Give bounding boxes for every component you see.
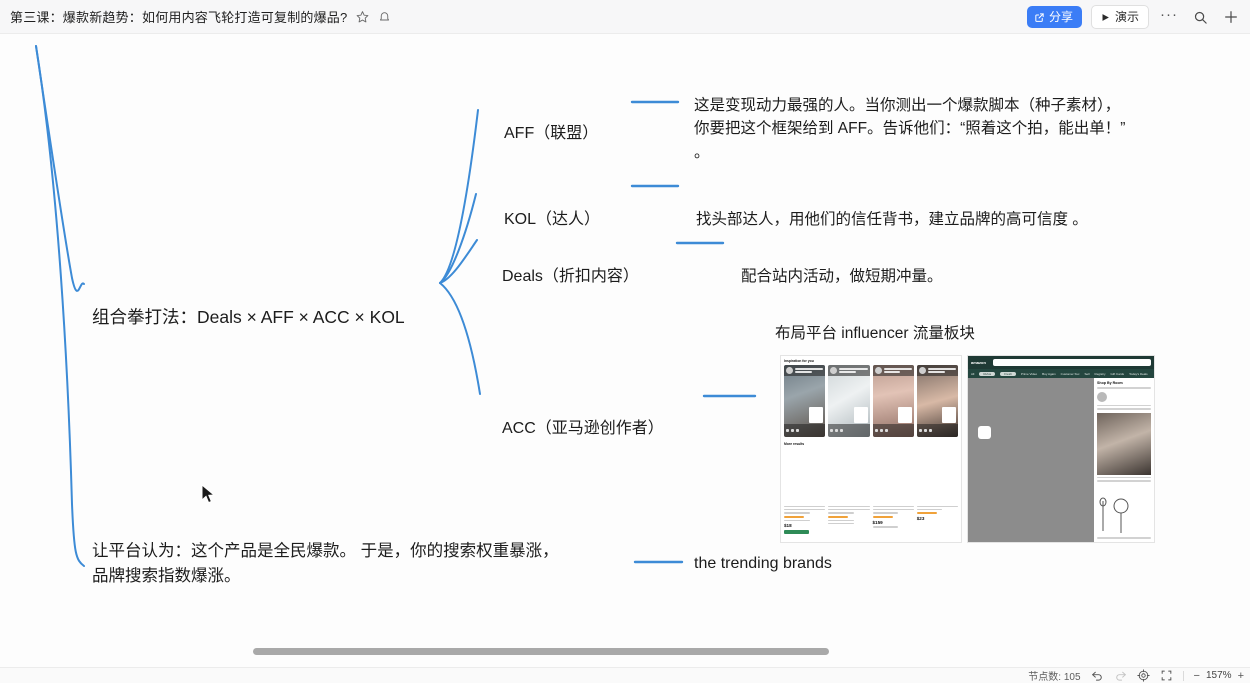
nav-item: Sell — [1085, 372, 1090, 376]
nav-item: Registry — [1095, 372, 1106, 376]
branch-label-deals[interactable]: Deals（折扣内容） — [502, 265, 639, 289]
nav-item: Customer Svc — [1061, 372, 1080, 376]
share-button-label: 分享 — [1049, 10, 1073, 24]
star-icon[interactable] — [356, 10, 369, 23]
image-caption[interactable]: 布局平台 influencer 流量板块 — [775, 322, 975, 345]
mindmap-app: 第三课：爆款新趋势：如何用内容飞轮打造可复制的爆品? — [0, 0, 1250, 683]
horizontal-scrollbar[interactable] — [253, 648, 829, 655]
branch-detail-kol[interactable]: 找头部达人，用他们的信任背书，建立品牌的高可信度 。 — [696, 208, 1236, 231]
zoom-in-button[interactable]: + — [1238, 671, 1244, 681]
crosshair-target-icon[interactable] — [1137, 669, 1150, 682]
screenshot-b-body: Shop By Room ​ — [968, 378, 1154, 542]
whisk-icon — [1113, 497, 1129, 535]
present-button[interactable]: 演示 — [1091, 5, 1149, 29]
nav-item: All — [971, 372, 974, 376]
branch-label-kol[interactable]: KOL（达人） — [504, 208, 600, 232]
search-icon[interactable] — [1189, 6, 1211, 28]
screenshot-b-nav: All Rufus Fresh Prime Video Buy Again Cu… — [968, 369, 1154, 378]
utensil-icon — [1097, 497, 1109, 535]
root-node-label[interactable]: 组合拳打法：Deals × AFF × ACC × KOL — [92, 304, 405, 330]
nav-item: Today's Deals — [1129, 372, 1148, 376]
product-price: $18 — [784, 523, 825, 528]
branch-label-aff[interactable]: AFF（联盟） — [504, 122, 598, 146]
screenshot-b-search-bar — [993, 359, 1151, 366]
nav-item: Buy Again — [1042, 372, 1056, 376]
product-price: $159 — [873, 520, 914, 525]
nav-item: Gift Cards — [1111, 372, 1125, 376]
page-title: 第三课：爆款新趋势：如何用内容飞轮打造可复制的爆品? — [10, 7, 347, 26]
screenshot-amazon-page[interactable]: amazon All Rufus Fresh Prime Video Buy A… — [967, 355, 1155, 543]
zoom-controls: − 157% + — [1194, 670, 1244, 681]
document-title-group: 第三课：爆款新趋势：如何用内容飞轮打造可复制的爆品? — [0, 0, 391, 34]
nav-item: Rufus — [979, 372, 995, 376]
screenshot-b-panel-title: Shop By Room — [1097, 381, 1151, 385]
more-options-button[interactable]: ··· — [1158, 6, 1180, 28]
external-link-icon — [1034, 12, 1045, 23]
top-toolbar: 第三课：爆款新趋势：如何用内容飞轮打造可复制的爆品? — [0, 0, 1250, 34]
product-card: $23 — [917, 448, 958, 534]
undo-arrow-icon[interactable] — [1091, 670, 1104, 681]
product-card: $18 — [784, 448, 825, 534]
bottom-node-label[interactable]: 让平台认为：这个产品是全民爆款。 于是，你的搜索权重暴涨， 品牌搜索指数爆涨。 — [92, 539, 632, 589]
bell-icon[interactable] — [378, 10, 391, 23]
present-button-label: 演示 — [1115, 10, 1139, 24]
bottom-link-label[interactable]: the trending brands — [694, 552, 832, 576]
product-price: $23 — [917, 516, 958, 521]
screenshot-a-section1-title: Inspiration for you — [781, 356, 961, 365]
nav-item: Fresh — [1000, 372, 1016, 376]
zoom-out-button[interactable]: − — [1194, 671, 1200, 681]
product-card — [828, 448, 869, 534]
reel-thumbnail — [828, 365, 869, 437]
amazon-logo: amazon — [971, 360, 986, 365]
product-card: $159 — [873, 448, 914, 534]
screenshot-a-section2-title: More results — [781, 437, 961, 448]
share-button[interactable]: 分享 — [1027, 6, 1082, 28]
mouse-cursor-icon — [201, 484, 217, 506]
screenshot-a-reel-row — [781, 365, 961, 437]
reel-thumbnail — [873, 365, 914, 437]
top-toolbar-actions: 分享 演示 ··· — [1027, 0, 1242, 34]
screenshot-b-header: amazon — [968, 356, 1154, 369]
branch-label-acc[interactable]: ACC（亚马逊创作者） — [502, 417, 664, 441]
branch-detail-aff[interactable]: 这是变现动力最强的人。当你测出一个爆款脚本（种子素材）， 你要把这个框架给到 A… — [694, 94, 1246, 164]
plus-icon[interactable] — [1220, 6, 1242, 28]
screenshot-a-product-grid: $18 $159 $23 — [781, 448, 961, 534]
reel-thumbnail — [784, 365, 825, 437]
screenshot-amazon-feed[interactable]: Inspiration for you — [780, 355, 962, 543]
status-divider — [1183, 671, 1184, 681]
status-bar: 节点数: 105 − 157% + — [0, 667, 1250, 683]
nav-item: Prime Video — [1021, 372, 1037, 376]
fit-to-screen-icon[interactable] — [1160, 669, 1173, 682]
play-icon — [1101, 13, 1110, 22]
screenshot-b-sidepanel: Shop By Room ​ — [1094, 378, 1154, 542]
reel-thumbnail — [917, 365, 958, 437]
mindmap-canvas[interactable]: AFF（联盟） 这是变现动力最强的人。当你测出一个爆款脚本（种子素材）， 你要把… — [0, 34, 1250, 668]
node-count-label: 节点数: 105 — [1028, 668, 1080, 683]
redo-arrow-icon[interactable] — [1114, 670, 1127, 681]
branch-detail-deals[interactable]: 配合站内活动，做短期冲量。 — [741, 265, 1161, 288]
zoom-level-label[interactable]: 157% — [1206, 670, 1232, 681]
emoji-sticker-icon — [978, 426, 991, 439]
